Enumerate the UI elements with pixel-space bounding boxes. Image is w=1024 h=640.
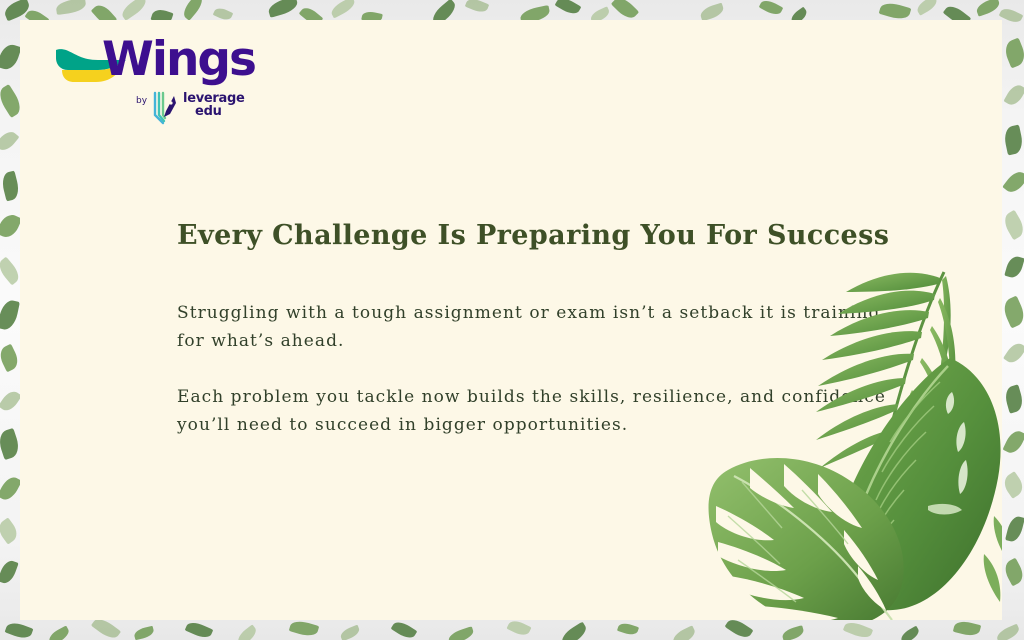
leaf-fragment xyxy=(915,0,940,16)
monstera-leaf xyxy=(709,458,904,620)
leaf-fragment xyxy=(391,619,418,640)
palm-tip xyxy=(984,516,1002,602)
leverage-edu-wordmark: leverage edu xyxy=(183,92,244,118)
leaf-fragment xyxy=(55,0,87,15)
leaf-fragment xyxy=(1005,515,1024,544)
leaf-fragment xyxy=(995,624,1021,640)
leaf-fragment xyxy=(1002,38,1024,69)
leaf-fragment xyxy=(611,0,639,22)
leaf-fragment xyxy=(1001,558,1024,587)
leaf-fragment xyxy=(1003,340,1024,366)
paragraph-1: Struggling with a tough assignment or ex… xyxy=(177,299,889,355)
leaf-fragment xyxy=(1001,210,1024,241)
leaf-fragment xyxy=(0,388,22,414)
leaf-fragment xyxy=(180,0,206,21)
leaf-fragment xyxy=(0,42,22,72)
leaf-fragment xyxy=(339,625,361,640)
edu-word: edu xyxy=(195,105,244,118)
leaf-fragment xyxy=(953,619,981,638)
leaf-fragment xyxy=(447,626,475,640)
leaf-fragment xyxy=(843,619,873,640)
leaf-fragment xyxy=(2,0,32,21)
leaf-fragment xyxy=(0,344,21,373)
leaf-fragment xyxy=(0,171,21,202)
leaf-fragment xyxy=(133,626,155,640)
leaf-fragment xyxy=(0,474,22,503)
leaf-fragment xyxy=(555,0,582,17)
leaf-fragment xyxy=(1002,168,1024,196)
content-card: Wings by leverage edu Every Challenge Is… xyxy=(20,20,1002,620)
leaf-fragment xyxy=(465,0,490,15)
headline: Every Challenge Is Preparing You For Suc… xyxy=(177,220,937,251)
wings-by-leverage-edu-logo[interactable]: Wings by leverage edu xyxy=(36,30,246,140)
leaf-fragment xyxy=(1003,384,1024,413)
leaf-fragment xyxy=(1002,428,1024,456)
leaf-fragment xyxy=(1000,471,1024,499)
leaf-fragment xyxy=(975,0,1002,17)
leaf-fragment xyxy=(506,618,531,638)
leaf-fragment xyxy=(185,619,214,640)
leaf-fragment xyxy=(235,624,259,640)
book-rocket-icon xyxy=(152,91,178,125)
leaf-fragment xyxy=(999,6,1024,26)
leaf-fragment xyxy=(0,558,19,585)
leaf-fragment xyxy=(559,622,590,640)
leaf-fragment xyxy=(0,128,19,154)
poster-canvas: Wings by leverage edu Every Challenge Is… xyxy=(0,0,1024,640)
body-copy: Struggling with a tough assignment or ex… xyxy=(177,299,889,439)
leaf-fragment xyxy=(1003,82,1024,108)
leaf-fragment xyxy=(699,3,726,22)
leaf-fragment xyxy=(0,428,22,460)
leaf-fragment xyxy=(1002,125,1024,156)
leaf-fragment xyxy=(759,0,784,18)
leaf-fragment xyxy=(0,517,21,544)
leaf-fragment xyxy=(1000,296,1024,329)
leaf-fragment xyxy=(5,620,34,640)
leaf-fragment xyxy=(0,299,20,332)
leaf-fragment xyxy=(899,626,921,640)
leaf-fragment xyxy=(47,625,72,640)
leaf-fragment xyxy=(119,0,149,21)
leaf-fragment xyxy=(0,211,22,240)
by-label: by xyxy=(136,96,147,106)
leaf-fragment xyxy=(1004,254,1024,279)
leaf-fragment xyxy=(267,0,300,18)
leaf-fragment xyxy=(879,0,912,22)
paragraph-2: Each problem you tackle now builds the s… xyxy=(177,383,889,439)
leaf-fragment xyxy=(671,625,698,640)
leaf-fragment xyxy=(617,621,639,637)
wings-wordmark: Wings xyxy=(102,36,255,83)
leaf-fragment xyxy=(781,625,805,640)
leaf-fragment xyxy=(289,618,319,638)
leaf-fragment xyxy=(329,0,357,18)
